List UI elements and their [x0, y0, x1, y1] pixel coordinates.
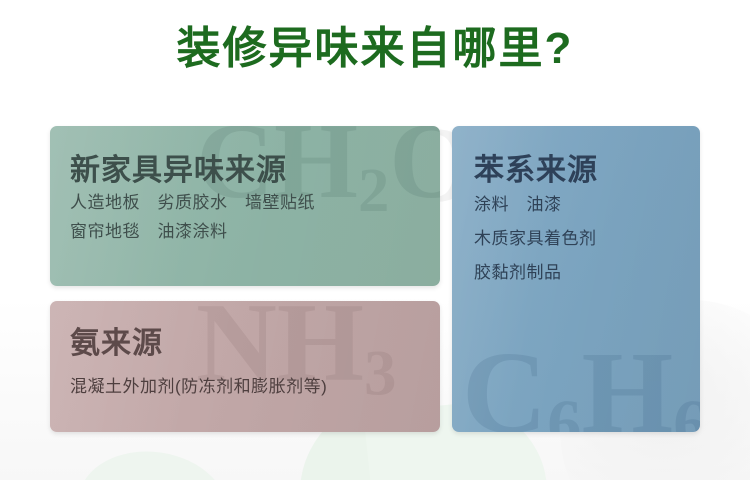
card-line-furniture-1: 人造地板 劣质胶水 墙壁贴纸 [70, 188, 440, 217]
card-benzene-source: C6H6 苯系来源 涂料 油漆 木质家具着色剂 胶黏剂制品 [452, 126, 700, 432]
leaf-shape-small [71, 442, 235, 480]
card-body: 氨来源 混凝土外加剂(防冻剂和膨胀剂等) [50, 327, 440, 401]
page-title: 装修异味来自哪里? [0, 22, 750, 76]
card-heading-furniture: 新家具异味来源 [70, 154, 440, 188]
card-ammonia-source: NH3 氨来源 混凝土外加剂(防冻剂和膨胀剂等) [50, 301, 440, 432]
card-line-furniture-2: 窗帘地毯 油漆涂料 [70, 217, 440, 246]
card-line-benzene-3: 胶黏剂制品 [474, 256, 700, 290]
card-heading-benzene: 苯系来源 [474, 154, 700, 188]
card-line-ammonia-1: 混凝土外加剂(防冻剂和膨胀剂等) [70, 373, 440, 401]
poster-canvas: CH2O NH3 C6H6 装修异味来自哪里? CH2O 新家具异味来源 人造地… [0, 0, 750, 480]
card-body: 苯系来源 涂料 油漆 木质家具着色剂 胶黏剂制品 [452, 154, 700, 290]
card-line-benzene-2: 木质家具着色剂 [474, 222, 700, 256]
card-heading-ammonia: 氨来源 [70, 327, 440, 361]
card-body: 新家具异味来源 人造地板 劣质胶水 墙壁贴纸 窗帘地毯 油漆涂料 [50, 154, 440, 246]
card-line-benzene-1: 涂料 油漆 [474, 188, 700, 222]
card-furniture-odor-source: CH2O 新家具异味来源 人造地板 劣质胶水 墙壁贴纸 窗帘地毯 油漆涂料 [50, 126, 440, 286]
card-watermark-benzene: C6H6 [462, 334, 700, 432]
